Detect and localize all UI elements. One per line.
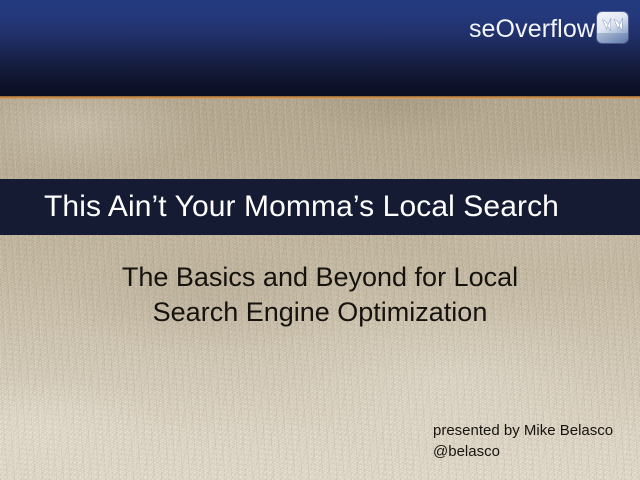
seoverflow-checkmarks-icon (597, 12, 628, 43)
title-bar: This Ain’t Your Momma’s Local Search (0, 179, 640, 235)
brand-wordmark: seOverflow (469, 17, 595, 42)
subtitle: The Basics and Beyond for Local Search E… (0, 260, 640, 329)
title-slide: seOverflow This Ain’t Your Momma’s Local… (0, 0, 640, 480)
presenter-name: presented by Mike Belasco (433, 421, 613, 442)
header-accent-rule (0, 96, 640, 99)
subtitle-line-2: Search Engine Optimization (0, 295, 640, 330)
subtitle-line-1: The Basics and Beyond for Local (0, 260, 640, 295)
presenter-credit: presented by Mike Belasco @belasco (433, 421, 613, 462)
brand-logo: seOverflow (469, 12, 628, 46)
presenter-handle: @belasco (433, 442, 613, 463)
page-title: This Ain’t Your Momma’s Local Search (0, 192, 559, 222)
